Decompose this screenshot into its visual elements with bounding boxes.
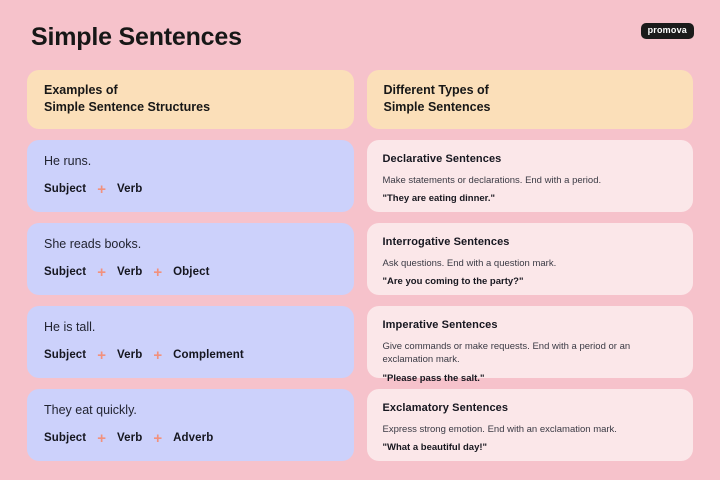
- right-heading-line-2: Simple Sentences: [384, 99, 677, 116]
- plus-icon: +: [97, 431, 106, 446]
- plus-icon: +: [153, 348, 162, 363]
- sentence-type-description: Make statements or declarations. End wit…: [383, 174, 678, 187]
- sentence-type-example: "Are you coming to the party?": [383, 276, 678, 288]
- left-heading-line-2: Simple Sentence Structures: [44, 99, 337, 116]
- structure-card[interactable]: He runs. Subject + Verb: [27, 140, 354, 212]
- plus-icon: +: [153, 431, 162, 446]
- formula-part: Verb: [117, 266, 142, 278]
- plus-icon: +: [97, 265, 106, 280]
- right-column-header: Different Types of Simple Sentences: [367, 70, 694, 129]
- plus-icon: +: [97, 182, 106, 197]
- structure-formula: Subject + Verb: [44, 182, 337, 197]
- structure-formula: Subject + Verb + Adverb: [44, 431, 337, 446]
- sentence-type-card[interactable]: Imperative Sentences Give commands or ma…: [367, 306, 694, 378]
- sentence-type-description: Ask questions. End with a question mark.: [383, 257, 678, 270]
- structure-formula: Subject + Verb + Complement: [44, 348, 337, 363]
- structure-card[interactable]: They eat quickly. Subject + Verb + Adver…: [27, 389, 354, 461]
- sentence-type-example: "Please pass the salt.": [383, 373, 678, 385]
- structure-card[interactable]: She reads books. Subject + Verb + Object: [27, 223, 354, 295]
- sentence-type-example: "They are eating dinner.": [383, 193, 678, 205]
- infographic-page: Simple Sentences promova Examples of Sim…: [0, 0, 720, 480]
- sentence-type-title: Imperative Sentences: [383, 319, 678, 332]
- formula-part: Object: [173, 266, 209, 278]
- formula-part: Adverb: [173, 432, 213, 444]
- sentence-type-card[interactable]: Interrogative Sentences Ask questions. E…: [367, 223, 694, 295]
- structure-formula: Subject + Verb + Object: [44, 265, 337, 280]
- sentence-type-description: Express strong emotion. End with an excl…: [383, 423, 678, 436]
- formula-part: Subject: [44, 266, 86, 278]
- formula-part: Verb: [117, 432, 142, 444]
- structure-card[interactable]: He is tall. Subject + Verb + Complement: [27, 306, 354, 378]
- left-heading-line-1: Examples of: [44, 82, 337, 99]
- right-column: Different Types of Simple Sentences Decl…: [367, 70, 694, 461]
- structure-example: He is tall.: [44, 320, 337, 335]
- columns-container: Examples of Simple Sentence Structures H…: [0, 70, 720, 461]
- promova-logo: promova: [641, 23, 694, 39]
- formula-part: Complement: [173, 349, 244, 361]
- sentence-type-card[interactable]: Exclamatory Sentences Express strong emo…: [367, 389, 694, 461]
- sentence-type-title: Interrogative Sentences: [383, 236, 678, 249]
- page-title: Simple Sentences: [31, 23, 242, 52]
- formula-part: Subject: [44, 432, 86, 444]
- sentence-type-card[interactable]: Declarative Sentences Make statements or…: [367, 140, 694, 212]
- sentence-type-title: Exclamatory Sentences: [383, 402, 678, 415]
- sentence-type-title: Declarative Sentences: [383, 153, 678, 166]
- structure-example: They eat quickly.: [44, 403, 337, 418]
- formula-part: Subject: [44, 349, 86, 361]
- formula-part: Verb: [117, 349, 142, 361]
- plus-icon: +: [97, 348, 106, 363]
- left-column-header: Examples of Simple Sentence Structures: [27, 70, 354, 129]
- structure-example: He runs.: [44, 154, 337, 169]
- plus-icon: +: [153, 265, 162, 280]
- formula-part: Verb: [117, 183, 142, 195]
- right-heading-line-1: Different Types of: [384, 82, 677, 99]
- sentence-type-description: Give commands or make requests. End with…: [383, 340, 678, 367]
- left-column: Examples of Simple Sentence Structures H…: [27, 70, 354, 461]
- structure-example: She reads books.: [44, 237, 337, 252]
- formula-part: Subject: [44, 183, 86, 195]
- sentence-type-example: "What a beautiful day!": [383, 442, 678, 454]
